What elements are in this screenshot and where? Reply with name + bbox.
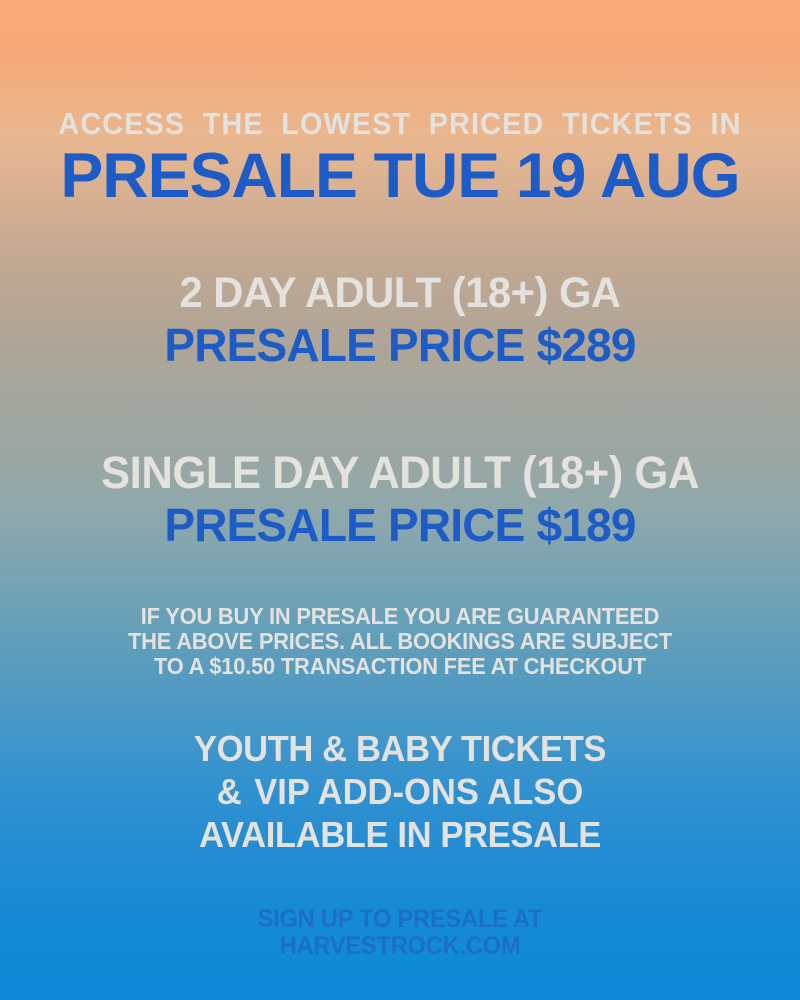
ticket-tier-single-day: SINGLE DAY ADULT (18+) GA PRESALE PRICE …: [0, 450, 800, 548]
tier-label-single-day: SINGLE DAY ADULT (18+) GA: [12, 450, 788, 495]
extras-line-1: YOUTH & BABY TICKETS: [16, 727, 784, 770]
extras-ampersand: &: [217, 771, 242, 812]
ticket-tier-2day: 2 DAY ADULT (18+) GA PRESALE PRICE $289: [0, 272, 800, 368]
tier-price-2day: PRESALE PRICE $289: [0, 322, 800, 368]
extras-line-3: AVAILABLE IN PRESALE: [16, 813, 784, 856]
tier-label-2day: 2 DAY ADULT (18+) GA: [12, 272, 788, 315]
presale-announcement-poster: ACCESS THE LOWEST PRICED TICKETS IN PRES…: [0, 0, 800, 1000]
headline-presale-date: PRESALE TUE 19 AUG: [0, 145, 800, 208]
fine-print-line-3: TO A $10.50 TRANSACTION FEE AT CHECKOUT: [20, 654, 780, 679]
footer-website-link[interactable]: HARVESTROCK.COM: [20, 933, 780, 960]
fine-print-line-1: IF YOU BUY IN PRESALE YOU ARE GUARANTEED: [20, 604, 780, 629]
fine-print-line-2: THE ABOVE PRICES. ALL BOOKINGS ARE SUBJE…: [20, 629, 780, 654]
tier-price-single-day: PRESALE PRICE $189: [0, 502, 800, 548]
footer-block: SIGN UP TO PRESALE AT HARVESTROCK.COM: [0, 906, 800, 960]
extras-vip-text: VIP ADD-ONS ALSO: [254, 771, 583, 812]
kicker-text: ACCESS THE LOWEST PRICED TICKETS IN: [28, 108, 772, 139]
additional-tickets-block: YOUTH & BABY TICKETS &VIP ADD-ONS ALSO A…: [0, 727, 800, 856]
header-block: ACCESS THE LOWEST PRICED TICKETS IN PRES…: [0, 108, 800, 208]
fine-print-block: IF YOU BUY IN PRESALE YOU ARE GUARANTEED…: [0, 604, 800, 679]
extras-line-2: &VIP ADD-ONS ALSO: [16, 770, 784, 813]
footer-call-to-action: SIGN UP TO PRESALE AT: [20, 906, 780, 933]
